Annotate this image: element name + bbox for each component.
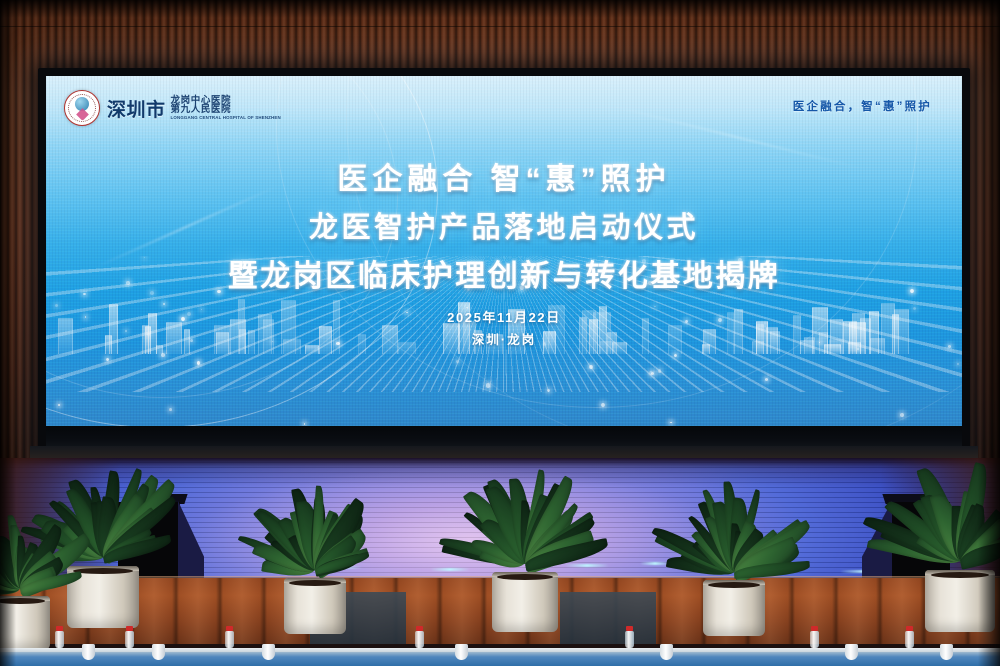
bottle-cap [126, 626, 133, 631]
water-bottle [55, 631, 64, 648]
plant-foliage [668, 484, 800, 580]
frame-shadow-left [0, 0, 16, 666]
event-title-block: 医企融合 智“惠”照护 龙医智护产品落地启动仪式 暨龙岗区临床护理创新与转化基地… [46, 154, 962, 348]
event-date: 2025年11月22日 [46, 307, 962, 326]
pot-soil [708, 582, 760, 588]
water-bottle [625, 631, 634, 648]
event-title-line-1: 医企融合 智“惠”照护 [46, 154, 962, 198]
paper-cup [845, 644, 858, 660]
water-bottle [905, 631, 914, 648]
bottle-cap [416, 626, 423, 631]
paper-cup [262, 644, 275, 660]
paper-cup [660, 644, 673, 660]
logo-hospital-name-2: 第九人民医院 [171, 105, 281, 115]
bottle-cap [626, 626, 633, 631]
plant-foliage [250, 482, 380, 578]
water-bottle [225, 631, 234, 648]
paper-cup [455, 644, 468, 660]
pot-soil [497, 574, 552, 580]
bottle-cap [56, 626, 63, 631]
paper-cup [152, 644, 165, 660]
event-title-line-3: 暨龙岗区临床护理创新与转化基地揭牌 [46, 251, 962, 295]
plant-pot [703, 580, 765, 636]
plant-foliage [455, 470, 595, 572]
slogan-top-right: 医企融合，智“惠”照护 [793, 98, 932, 114]
pot-soil [289, 580, 341, 586]
water-bottle [810, 631, 819, 648]
potted-plant [250, 482, 380, 634]
water-bottle [125, 631, 134, 648]
paper-cup [940, 644, 953, 660]
conference-hall-scene: 深圳市 龙岗中心医院 第九人民医院 LONGGANG CENTRAL HOSPI… [0, 0, 1000, 666]
paper-cup [82, 644, 95, 660]
frame-shadow-right [978, 0, 1000, 666]
bottle-cap [226, 626, 233, 631]
frame-shadow-top [0, 0, 1000, 18]
event-title-line-2: 龙医智护产品落地启动仪式 [46, 204, 962, 246]
water-bottle [415, 631, 424, 648]
potted-plant [668, 484, 800, 636]
plant-pot [284, 578, 346, 634]
hospital-seal-emblem [64, 90, 100, 126]
pot-soil [73, 568, 133, 574]
logo-english-name: LONGGANG CENTRAL HOSPITAL OF SHENZHEN [171, 116, 281, 120]
potted-plant [455, 470, 595, 632]
plant-pot [492, 572, 558, 632]
bottle-cap [811, 626, 818, 631]
bottle-cap [906, 626, 913, 631]
led-screen[interactable]: 深圳市 龙岗中心医院 第九人民医院 LONGGANG CENTRAL HOSPI… [46, 76, 962, 426]
event-location: 深圳·龙岗 [46, 329, 962, 348]
hospital-logo: 深圳市 龙岗中心医院 第九人民医院 LONGGANG CENTRAL HOSPI… [64, 90, 281, 126]
logo-city-text: 深圳市 [107, 101, 166, 120]
